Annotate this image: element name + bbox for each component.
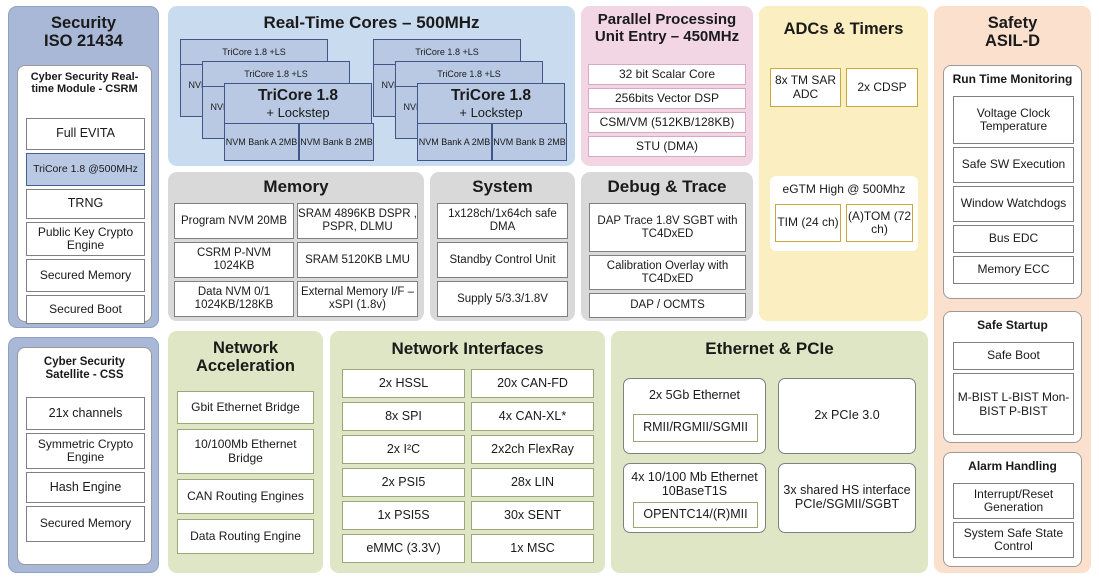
netif-left-emmc[interactable]: eMMC (3.3V) bbox=[342, 534, 465, 563]
memory-item-program-nvm[interactable]: Program NVM 20MB bbox=[174, 203, 294, 239]
css-item-channels[interactable]: 21x channels bbox=[26, 397, 145, 430]
alarm-handling-subpanel: Alarm Handling Interrupt/Reset Generatio… bbox=[943, 452, 1082, 567]
tricore-bank-b-1: NVM Bank B 2MB bbox=[299, 123, 374, 161]
adcs-title: ADCs & Timers bbox=[759, 6, 928, 38]
netif-left-spi[interactable]: 8x SPI bbox=[342, 402, 465, 431]
csrm-item-full-evita[interactable]: Full EVITA bbox=[26, 118, 145, 150]
eth-5gb-label: 2x 5Gb Ethernet bbox=[624, 379, 765, 402]
alarm-item-interrupt-reset[interactable]: Interrupt/Reset Generation bbox=[953, 483, 1074, 519]
adcs-item-sar-adc[interactable]: 8x TM SAR ADC bbox=[770, 68, 841, 107]
csrm-title: Cyber Security Real-time Module - CSRM bbox=[18, 66, 151, 98]
netif-left-psi5[interactable]: 2x PSI5 bbox=[342, 468, 465, 497]
eth-10-100-box[interactable]: 4x 10/100 Mb Ethernet 10BaseT1S OPENTC14… bbox=[623, 463, 766, 533]
csrm-subpanel: Cyber Security Real-time Module - CSRM F… bbox=[17, 65, 152, 322]
tricore-main-title-1: TriCore 1.8 bbox=[225, 87, 371, 105]
runtime-item-memory-ecc[interactable]: Memory ECC bbox=[953, 256, 1074, 284]
css-item-hash-engine[interactable]: Hash Engine bbox=[26, 472, 145, 503]
ppu-item-csm-vm[interactable]: CSM/VM (512KB/128KB) bbox=[588, 112, 746, 133]
system-item-standby[interactable]: Standby Control Unit bbox=[437, 242, 568, 278]
netif-left-psi5s[interactable]: 1x PSI5S bbox=[342, 501, 465, 530]
safe-startup-title: Safe Startup bbox=[944, 312, 1081, 334]
runtime-item-bus-edc[interactable]: Bus EDC bbox=[953, 225, 1074, 253]
csrm-item-secured-boot[interactable]: Secured Boot bbox=[26, 295, 145, 324]
debug-item-calibration-overlay[interactable]: Calibration Overlay with TC4DxED bbox=[589, 255, 746, 290]
startup-item-safe-boot[interactable]: Safe Boot bbox=[953, 342, 1074, 370]
ppu-item-stu-dma[interactable]: STU (DMA) bbox=[588, 136, 746, 157]
system-item-dma[interactable]: 1x128ch/1x64ch safe DMA bbox=[437, 203, 568, 239]
system-item-supply[interactable]: Supply 5/3.3/1.8V bbox=[437, 281, 568, 317]
system-title: System bbox=[430, 172, 575, 196]
tricore-main-card-2[interactable]: TriCore 1.8 + Lockstep NVM Bank A 2MB NV… bbox=[417, 83, 565, 159]
startup-item-bist[interactable]: M-BIST L-BIST Mon-BIST P-BIST bbox=[953, 373, 1074, 435]
panel-parallel-processing-unit: Parallel Processing Unit Entry – 450MHz … bbox=[581, 6, 753, 166]
memory-item-external-memory[interactable]: External Memory I/F – xSPI (1.8v) bbox=[297, 281, 418, 317]
netif-right-lin[interactable]: 28x LIN bbox=[471, 468, 594, 497]
netif-right-can-xl[interactable]: 4x CAN-XL* bbox=[471, 402, 594, 431]
shared-hs-box[interactable]: 3x shared HS interface PCIe/SGMII/SGBT bbox=[778, 463, 916, 533]
eth-5gb-sub[interactable]: RMII/RGMII/SGMII bbox=[633, 414, 758, 442]
tricore-bank-a-2: NVM Bank A 2MB bbox=[417, 123, 492, 161]
csrm-item-tricore[interactable]: TriCore 1.8 @500MHz bbox=[26, 153, 145, 186]
tricore-main-card-1[interactable]: TriCore 1.8 + Lockstep NVM Bank A 2MB NV… bbox=[224, 83, 372, 159]
runtime-monitoring-title: Run Time Monitoring bbox=[944, 66, 1081, 88]
netif-left-i2c[interactable]: 2x I²C bbox=[342, 435, 465, 464]
csrm-item-pkce[interactable]: Public Key Crypto Engine bbox=[26, 222, 145, 256]
panel-debug-trace: Debug & Trace DAP Trace 1.8V SGBT with T… bbox=[581, 172, 753, 321]
alarm-item-system-safe-state[interactable]: System Safe State Control bbox=[953, 522, 1074, 558]
eth-10-100-sub[interactable]: OPENTC14/(R)MII bbox=[633, 502, 758, 528]
tricore-main-sub-2: + Lockstep bbox=[418, 105, 564, 120]
egtm-subpanel: eGTM High @ 500Mhz TIM (24 ch) (A)TOM (7… bbox=[770, 176, 918, 251]
safe-startup-subpanel: Safe Startup Safe Boot M-BIST L-BIST Mon… bbox=[943, 311, 1082, 443]
runtime-item-safe-sw-execution[interactable]: Safe SW Execution bbox=[953, 147, 1074, 183]
netaccel-item-data-routing[interactable]: Data Routing Engine bbox=[177, 519, 314, 554]
debug-item-dap-ocmts[interactable]: DAP / OCMTS bbox=[589, 293, 746, 318]
tricore-main-title-2: TriCore 1.8 bbox=[418, 87, 564, 105]
eth-10-100-label: 4x 10/100 Mb Ethernet 10BaseT1S bbox=[624, 464, 765, 499]
netif-right-flexray[interactable]: 2x2ch FlexRay bbox=[471, 435, 594, 464]
memory-title: Memory bbox=[168, 172, 424, 196]
runtime-monitoring-subpanel: Run Time Monitoring Voltage Clock Temper… bbox=[943, 65, 1082, 299]
netif-right-msc[interactable]: 1x MSC bbox=[471, 534, 594, 563]
adcs-item-cdsp[interactable]: 2x CDSP bbox=[846, 68, 918, 107]
runtime-item-window-watchdogs[interactable]: Window Watchdogs bbox=[953, 186, 1074, 222]
panel-system: System 1x128ch/1x64ch safe DMA Standby C… bbox=[430, 172, 575, 321]
netaccel-item-gbit-bridge[interactable]: Gbit Ethernet Bridge bbox=[177, 391, 314, 424]
panel-network-interfaces: Network Interfaces 2x HSSL 8x SPI 2x I²C… bbox=[330, 331, 605, 573]
memory-item-data-nvm[interactable]: Data NVM 0/1 1024KB/128KB bbox=[174, 281, 294, 317]
panel-safety: Safety ASIL-D Run Time Monitoring Voltag… bbox=[934, 6, 1091, 573]
egtm-title: eGTM High @ 500Mhz bbox=[770, 176, 918, 196]
css-item-symmetric-crypto[interactable]: Symmetric Crypto Engine bbox=[26, 433, 145, 469]
egtm-item-tim[interactable]: TIM (24 ch) bbox=[775, 204, 841, 242]
network-interfaces-title: Network Interfaces bbox=[330, 331, 605, 358]
panel-adcs-timers: ADCs & Timers 8x TM SAR ADC 2x CDSP eGTM… bbox=[759, 6, 928, 321]
egtm-item-atom[interactable]: (A)TOM (72 ch) bbox=[846, 204, 913, 242]
tricore-bank-a-1: NVM Bank A 2MB bbox=[224, 123, 299, 161]
css-title: Cyber Security Satellite - CSS bbox=[18, 348, 151, 384]
debug-item-dap-trace[interactable]: DAP Trace 1.8V SGBT with TC4DxED bbox=[589, 203, 746, 252]
tricore-bank-b-2: NVM Bank B 2MB bbox=[492, 123, 567, 161]
css-subpanel: Cyber Security Satellite - CSS 21x chann… bbox=[17, 347, 152, 565]
csrm-item-trng[interactable]: TRNG bbox=[26, 189, 145, 219]
tricore-cluster-1: TriCore 1.8 +LS NVM Bank 1M TriCore 1.8 … bbox=[180, 39, 370, 159]
netaccel-item-can-routing[interactable]: CAN Routing Engines bbox=[177, 479, 314, 514]
debug-title: Debug & Trace bbox=[581, 172, 753, 196]
tricore-main-sub-1: + Lockstep bbox=[225, 105, 371, 120]
css-item-secured-memory[interactable]: Secured Memory bbox=[26, 506, 145, 542]
ppu-item-vector-dsp[interactable]: 256bits Vector DSP bbox=[588, 88, 746, 109]
panel-memory: Memory Program NVM 20MB CSRM P-NVM 1024K… bbox=[168, 172, 424, 321]
netif-left-hssl[interactable]: 2x HSSL bbox=[342, 369, 465, 398]
alarm-handling-title: Alarm Handling bbox=[944, 453, 1081, 475]
netif-right-sent[interactable]: 30x SENT bbox=[471, 501, 594, 530]
panel-security-css: Cyber Security Satellite - CSS 21x chann… bbox=[8, 337, 159, 573]
csrm-item-secured-memory[interactable]: Secured Memory bbox=[26, 259, 145, 292]
ethernet-pcie-title: Ethernet & PCIe bbox=[611, 331, 928, 358]
realtime-cores-title: Real-Time Cores – 500MHz bbox=[168, 6, 575, 32]
runtime-item-voltage-clock-temp[interactable]: Voltage Clock Temperature bbox=[953, 96, 1074, 144]
security-title: Security ISO 21434 bbox=[9, 7, 158, 51]
network-acceleration-title: Network Acceleration bbox=[168, 331, 323, 376]
ppu-item-scalar-core[interactable]: 32 bit Scalar Core bbox=[588, 64, 746, 85]
panel-network-acceleration: Network Acceleration Gbit Ethernet Bridg… bbox=[168, 331, 323, 573]
panel-ethernet-pcie: Ethernet & PCIe 2x 5Gb Ethernet RMII/RGM… bbox=[611, 331, 928, 573]
eth-5gb-box[interactable]: 2x 5Gb Ethernet RMII/RGMII/SGMII bbox=[623, 378, 766, 454]
block-diagram: Security ISO 21434 Cyber Security Real-t… bbox=[0, 0, 1099, 579]
memory-item-sram-5120[interactable]: SRAM 5120KB LMU bbox=[297, 242, 418, 278]
safety-title: Safety ASIL-D bbox=[934, 6, 1091, 51]
netaccel-item-10-100-bridge[interactable]: 10/100Mb Ethernet Bridge bbox=[177, 429, 314, 474]
memory-item-sram-4896[interactable]: SRAM 4896KB DSPR , PSPR, DLMU bbox=[297, 203, 418, 239]
memory-item-csrm-pnvm[interactable]: CSRM P-NVM 1024KB bbox=[174, 242, 294, 278]
ppu-title: Parallel Processing Unit Entry – 450MHz bbox=[581, 6, 753, 46]
tricore-cluster-2: TriCore 1.8 +LS NVM Bank 1M TriCore 1.8 … bbox=[373, 39, 563, 159]
panel-realtime-cores: Real-Time Cores – 500MHz TriCore 1.8 +LS… bbox=[168, 6, 575, 166]
pcie-box[interactable]: 2x PCIe 3.0 bbox=[778, 378, 916, 454]
panel-security: Security ISO 21434 Cyber Security Real-t… bbox=[8, 6, 159, 328]
netif-right-can-fd[interactable]: 20x CAN-FD bbox=[471, 369, 594, 398]
